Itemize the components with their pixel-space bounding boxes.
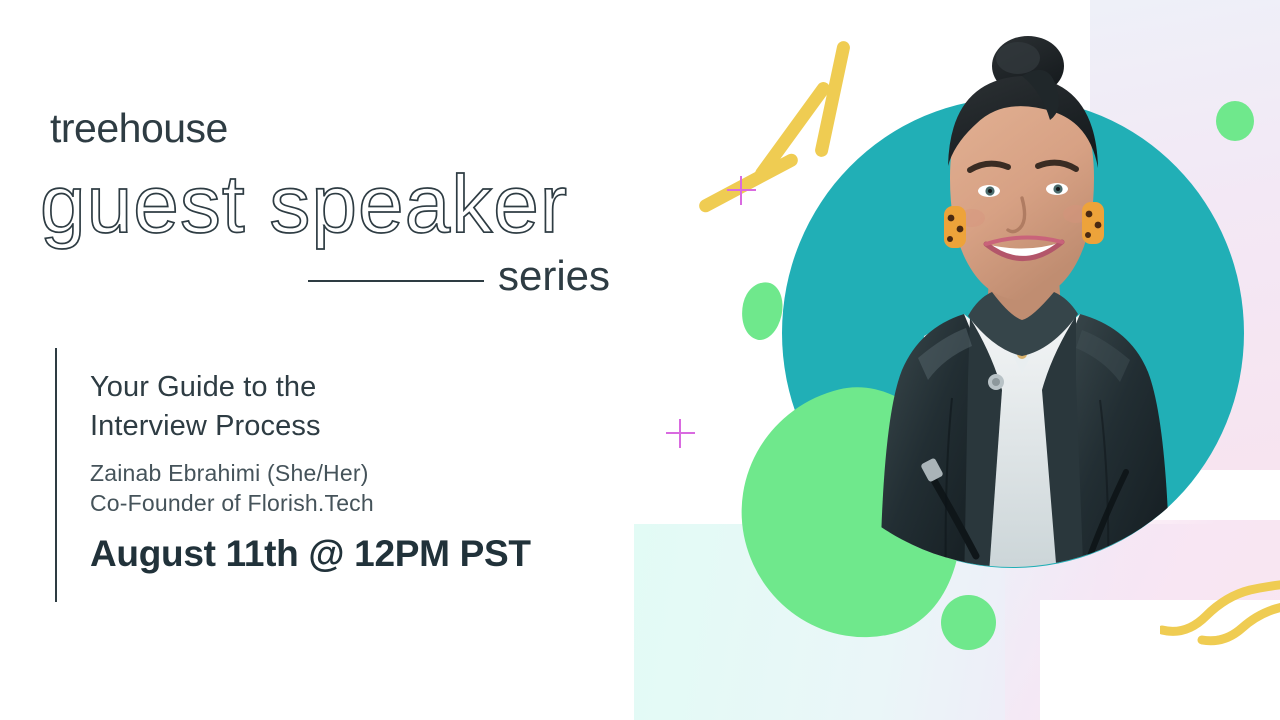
green-blob-small-icon: [736, 278, 787, 343]
earring-left-icon: [944, 206, 966, 248]
pink-plus-mark-icon: [727, 176, 756, 205]
pink-plus-mark-icon: [666, 419, 695, 448]
event-datetime: August 11th @ 12PM PST: [90, 535, 610, 574]
talk-title-line-1: Your Guide to the: [90, 371, 316, 403]
event-info-block: Your Guide to the Interview Process Zain…: [90, 368, 610, 574]
green-dot-bottom-icon: [941, 595, 996, 650]
earring-right-icon: [1082, 202, 1104, 244]
yellow-wave-lines-icon: [1160, 578, 1280, 658]
series-divider-rule: [308, 280, 484, 282]
talk-title-line-2: Interview Process: [90, 410, 321, 442]
series-label: series: [498, 255, 610, 297]
speaker-role: Co-Founder of Florish.Tech: [90, 488, 610, 519]
promo-slide: treehouse guest speaker series Your Guid…: [0, 0, 1280, 720]
brand-wordmark: treehouse: [50, 108, 228, 149]
info-accent-rule: [55, 348, 57, 602]
speaker-name: Zainab Ebrahimi (She/Her): [90, 458, 610, 489]
headline-guest-speaker: guest speaker: [40, 164, 568, 246]
talk-title: Your Guide to the Interview Process: [90, 368, 420, 446]
